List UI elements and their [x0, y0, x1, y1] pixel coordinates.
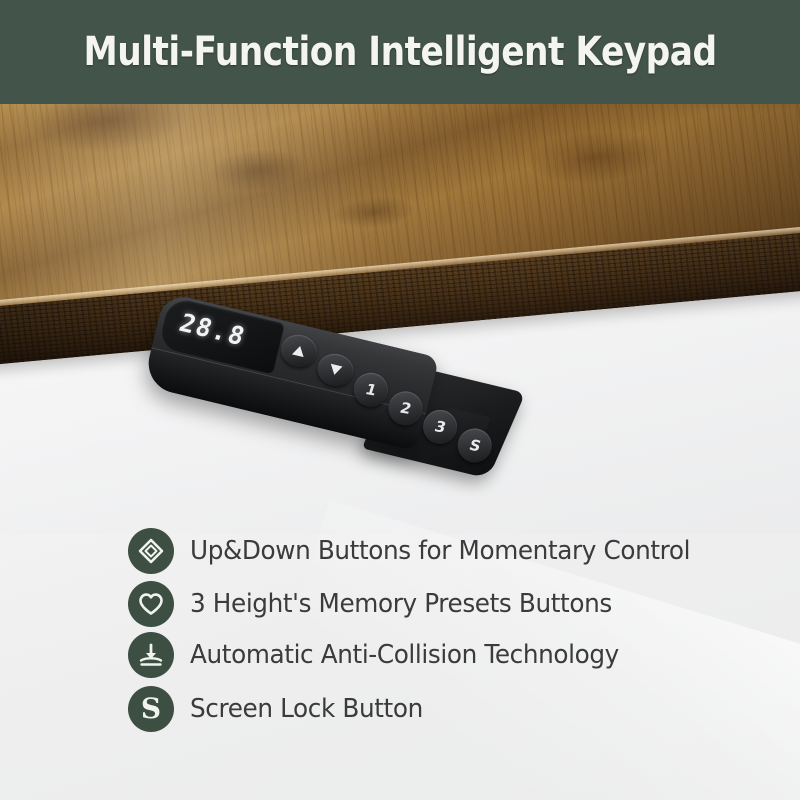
letter-s-glyph: S	[141, 695, 161, 723]
feature-label-screen-lock: Screen Lock Button	[190, 694, 423, 724]
triangle-down-icon	[329, 364, 343, 377]
feature-item-screen-lock: S Screen Lock Button	[128, 686, 435, 732]
feature-label-memory-presets: 3 Height's Memory Presets Buttons	[190, 589, 612, 619]
preset-3-label: 3	[432, 417, 448, 436]
up-down-diamond-icon	[128, 528, 174, 574]
triangle-up-icon	[292, 345, 306, 358]
header-band: Multi-Function Intelligent Keypad	[0, 0, 800, 104]
feature-item-up-down: Up&Down Buttons for Momentary Control	[128, 528, 716, 574]
feature-item-anti-collision: Automatic Anti-Collision Technology	[128, 632, 641, 678]
anti-collision-icon	[128, 632, 174, 678]
preset-2-label: 2	[398, 399, 414, 418]
heart-icon	[128, 581, 174, 627]
feature-label-anti-collision: Automatic Anti-Collision Technology	[190, 640, 619, 670]
page-title: Multi-Function Intelligent Keypad	[83, 29, 716, 75]
product-photo: 28.8 1 2 3 S	[0, 104, 800, 534]
feature-item-memory-presets: 3 Height's Memory Presets Buttons	[128, 581, 634, 627]
screen-lock-s-icon: S	[128, 686, 174, 732]
screen-lock-label: S	[467, 436, 483, 455]
preset-1-label: 1	[363, 380, 379, 399]
feature-label-up-down: Up&Down Buttons for Momentary Control	[190, 536, 690, 566]
product-feature-poster: Multi-Function Intelligent Keypad 28.8	[0, 0, 800, 800]
